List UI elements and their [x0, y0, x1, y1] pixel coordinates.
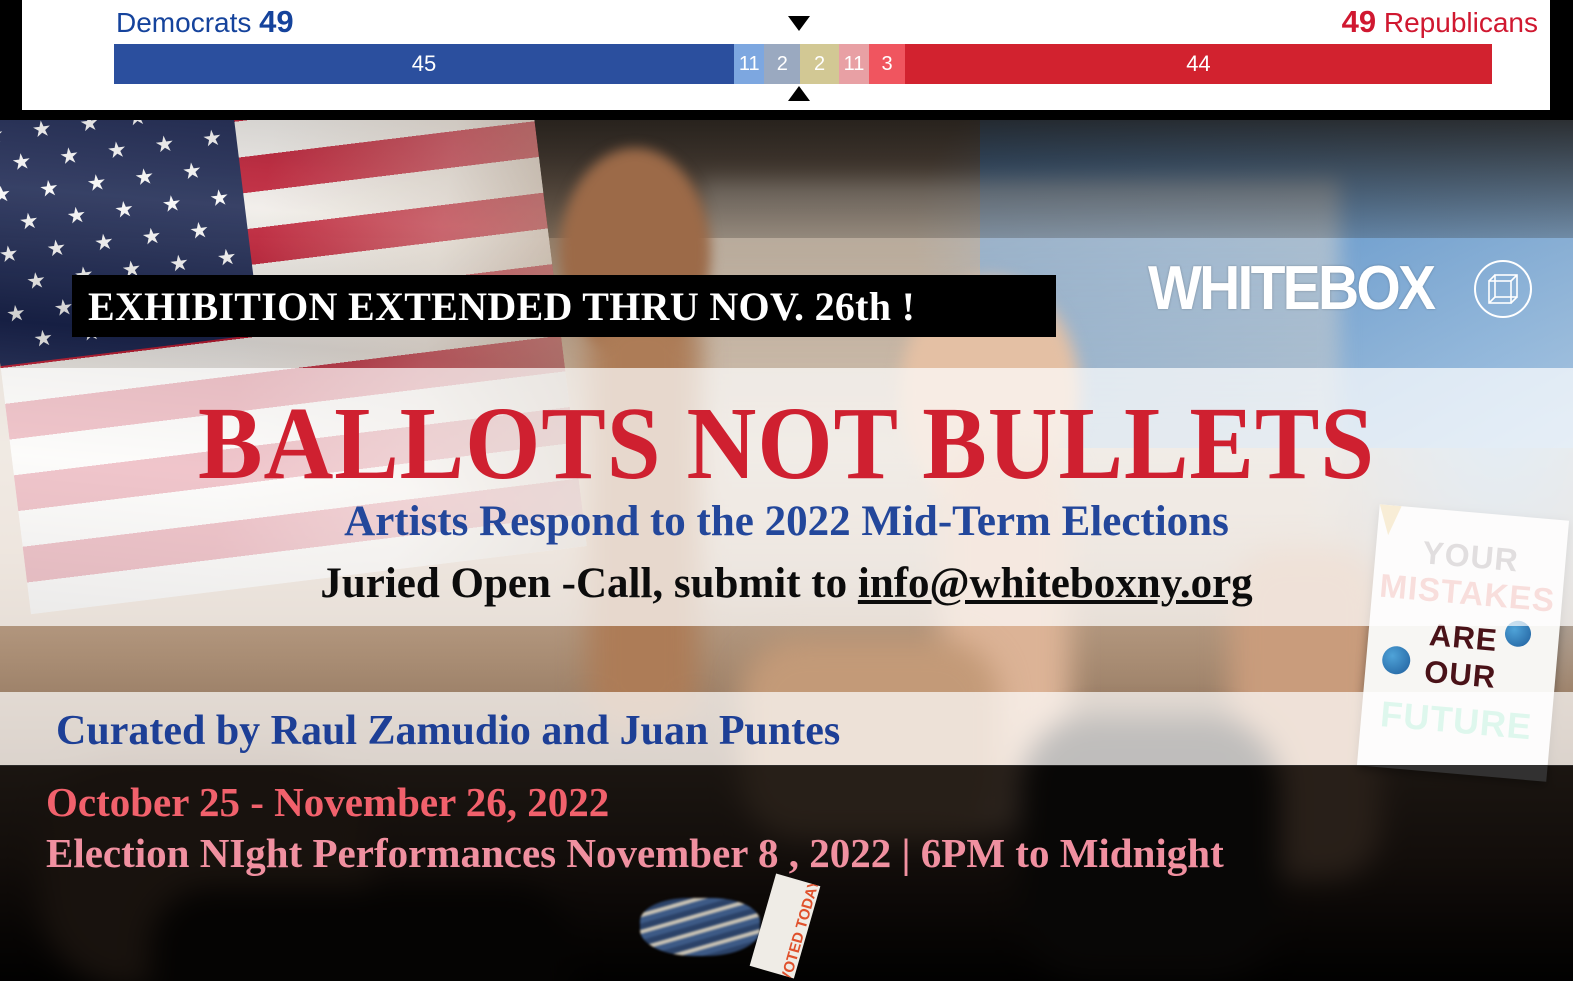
- exhibition-extended-text: EXHIBITION EXTENDED THRU NOV. 26th !: [72, 283, 915, 330]
- exhibition-extended-banner: EXHIBITION EXTENDED THRU NOV. 26th !: [72, 275, 1056, 337]
- submission-line: Juried Open -Call, submit to info@whiteb…: [0, 558, 1573, 610]
- frame-edge-right: [1550, 0, 1573, 118]
- senate-seat-bar[interactable]: 45112211344: [114, 44, 1492, 84]
- whitebox-logo[interactable]: WHITEBOX: [1148, 258, 1532, 320]
- senate-segment-solid-republican[interactable]: 44: [905, 44, 1492, 84]
- republicans-label: Republicans: [1384, 7, 1538, 38]
- senate-segment-toss-up[interactable]: 2: [800, 44, 839, 84]
- majority-marker-top-icon: [788, 16, 810, 31]
- senate-seat-tracker: Democrats 49 49 Republicans 45112211344: [22, 0, 1550, 110]
- curators-line: Curated by Raul Zamudio and Juan Puntes: [56, 706, 840, 756]
- poster-subtitle: Artists Respond to the 2022 Mid-Term Ele…: [0, 497, 1573, 547]
- election-night-performances: Election NIght Performances November 8 ,…: [46, 829, 1224, 877]
- republicans-count: 49: [1342, 4, 1376, 39]
- frame-edge-bottom: [0, 110, 1573, 120]
- frame-edge-left: [0, 0, 22, 118]
- senate-segment-solid-democrat[interactable]: 45: [114, 44, 734, 84]
- exhibition-dates: October 25 - November 26, 2022: [46, 778, 609, 826]
- democrats-label-group: Democrats 49: [116, 4, 294, 41]
- poster-title: BALLOTS NOT BULLETS: [55, 392, 1518, 496]
- whitebox-cube-icon: [1474, 260, 1532, 318]
- poster-text-layer: EXHIBITION EXTENDED THRU NOV. 26th ! WHI…: [0, 0, 1573, 981]
- submission-prefix: Juried Open -Call, submit to: [320, 560, 858, 607]
- majority-marker-bottom-icon: [788, 86, 810, 101]
- senate-segment-likely-democrat[interactable]: 11: [734, 44, 764, 84]
- democrats-count: 49: [259, 4, 293, 39]
- submission-email-link[interactable]: info@whiteboxny.org: [858, 560, 1253, 607]
- senate-segment-likely-republican[interactable]: 3: [869, 44, 905, 84]
- republicans-label-group: 49 Republicans: [1342, 4, 1538, 41]
- whitebox-wordmark: WHITEBOX: [1148, 258, 1433, 320]
- senate-segment-lean-democrat[interactable]: 2: [764, 44, 800, 84]
- poster-stage: ★ ★ ★ ★ ★ ★ ★ ★ ★ ★ ★ ★ ★ ★ ★ ★ ★ ★ ★ ★ …: [0, 0, 1573, 981]
- senate-segment-lean-republican[interactable]: 11: [839, 44, 869, 84]
- senate-tracker-labels: Democrats 49 49 Republicans: [22, 0, 1550, 44]
- democrats-label: Democrats: [116, 7, 251, 38]
